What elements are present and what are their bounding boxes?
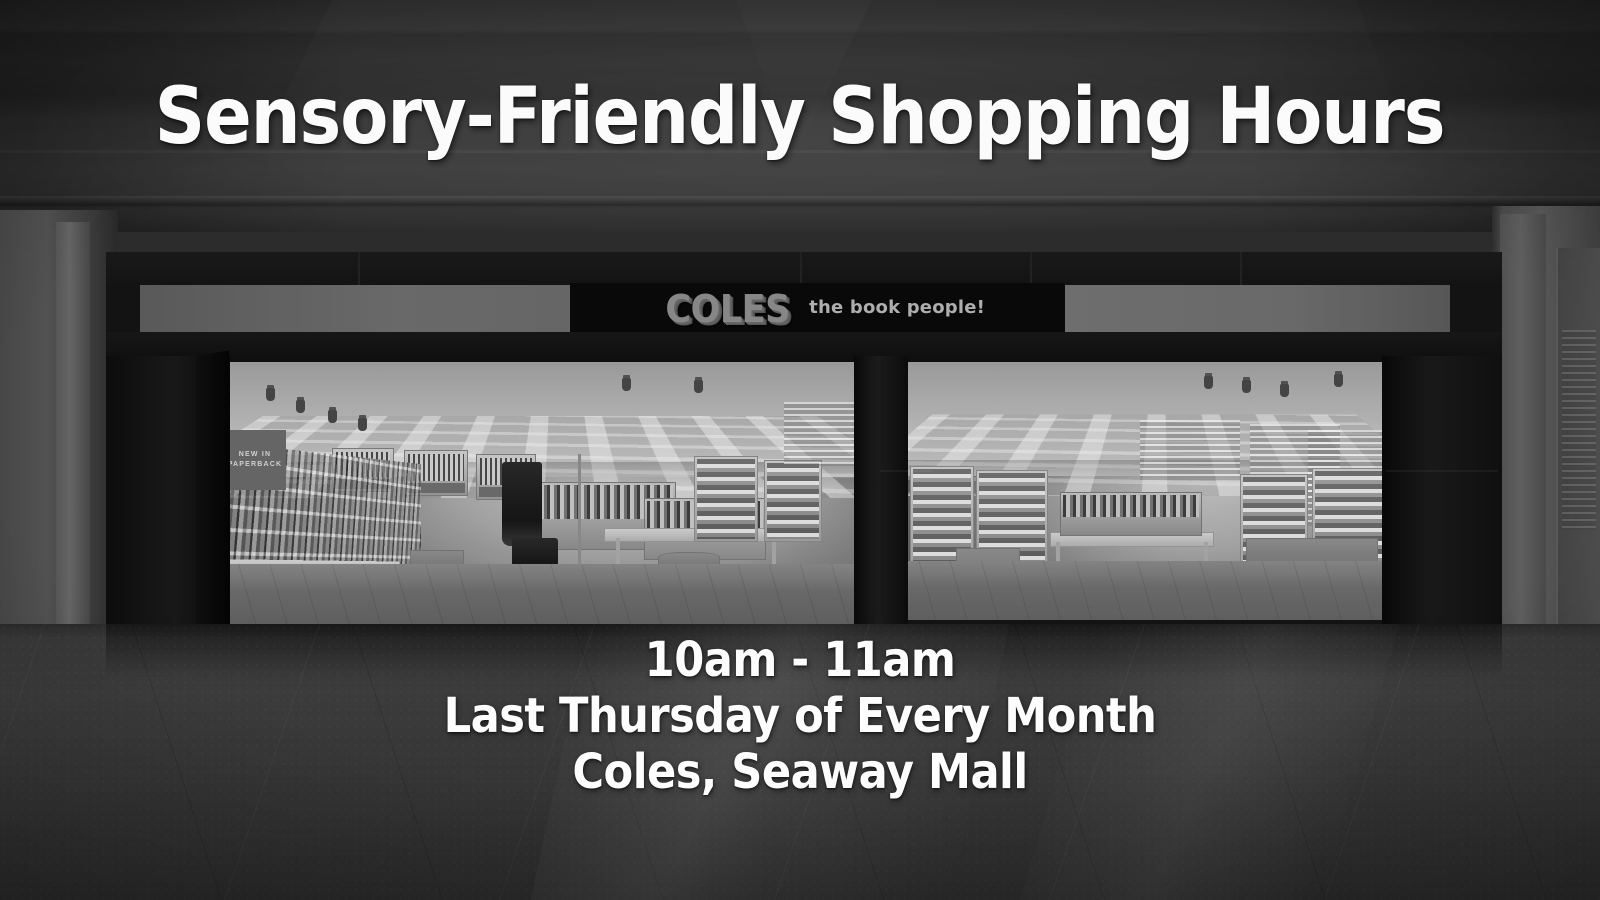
tabletop-merchandise	[1060, 492, 1202, 536]
store-tagline-text: the book people!	[809, 299, 985, 319]
storefront-pillar-right	[1382, 356, 1502, 632]
fascia-panel-left	[140, 285, 570, 332]
frame-panel-seam	[1240, 252, 1242, 286]
track-light-icon	[328, 410, 337, 423]
mall-pillar-right	[1500, 214, 1546, 684]
frame-panel-seam	[358, 252, 360, 286]
store-floor-planks-left	[224, 564, 856, 624]
mall-pillar-left	[56, 222, 90, 674]
storefront-frame-top-band	[106, 252, 1502, 286]
storefront-pillar-center	[854, 356, 908, 626]
track-light-icon	[694, 380, 703, 393]
track-light-icon	[266, 388, 275, 401]
floor-light-reflection	[531, 624, 1010, 900]
merchandise-stock	[1063, 495, 1199, 517]
store-brand-text: COLES	[665, 290, 789, 328]
mall-wall-vent-right	[1562, 330, 1596, 530]
track-light-icon	[1280, 384, 1289, 397]
store-sign: COLES the book people!	[570, 283, 1065, 334]
store-floor-planks-right	[904, 561, 1384, 620]
storefront-frame-bottom-band	[106, 332, 1502, 362]
track-light-icon	[622, 378, 631, 391]
ceiling-light-falloff	[0, 0, 1600, 232]
store-opening-right	[904, 362, 1384, 620]
slatwall-panel	[784, 402, 854, 466]
track-light-icon	[358, 418, 367, 431]
track-light-icon	[296, 400, 305, 413]
storefront-pillar-left-bevel	[196, 350, 229, 639]
frame-panel-seam	[800, 252, 802, 286]
store-opening-left: NEW INPAPERBACK	[224, 362, 856, 624]
slatwall-panel	[1140, 420, 1240, 480]
track-light-icon	[1334, 374, 1343, 387]
new-in-paperback-sign: NEW INPAPERBACK	[224, 430, 286, 490]
poster-canvas: COLES the book people! NEW INPAPERBACK	[0, 0, 1600, 900]
track-light-icon	[1242, 380, 1251, 393]
track-light-icon	[1204, 376, 1213, 389]
pillar-seam	[880, 470, 932, 472]
wall-shelving-left	[694, 456, 758, 542]
apparel-display	[502, 462, 542, 546]
fascia-panel-right	[1055, 285, 1450, 332]
frame-panel-seam	[1030, 252, 1032, 286]
pillar-seam	[1386, 470, 1498, 472]
wall-shelving-left	[764, 460, 822, 542]
